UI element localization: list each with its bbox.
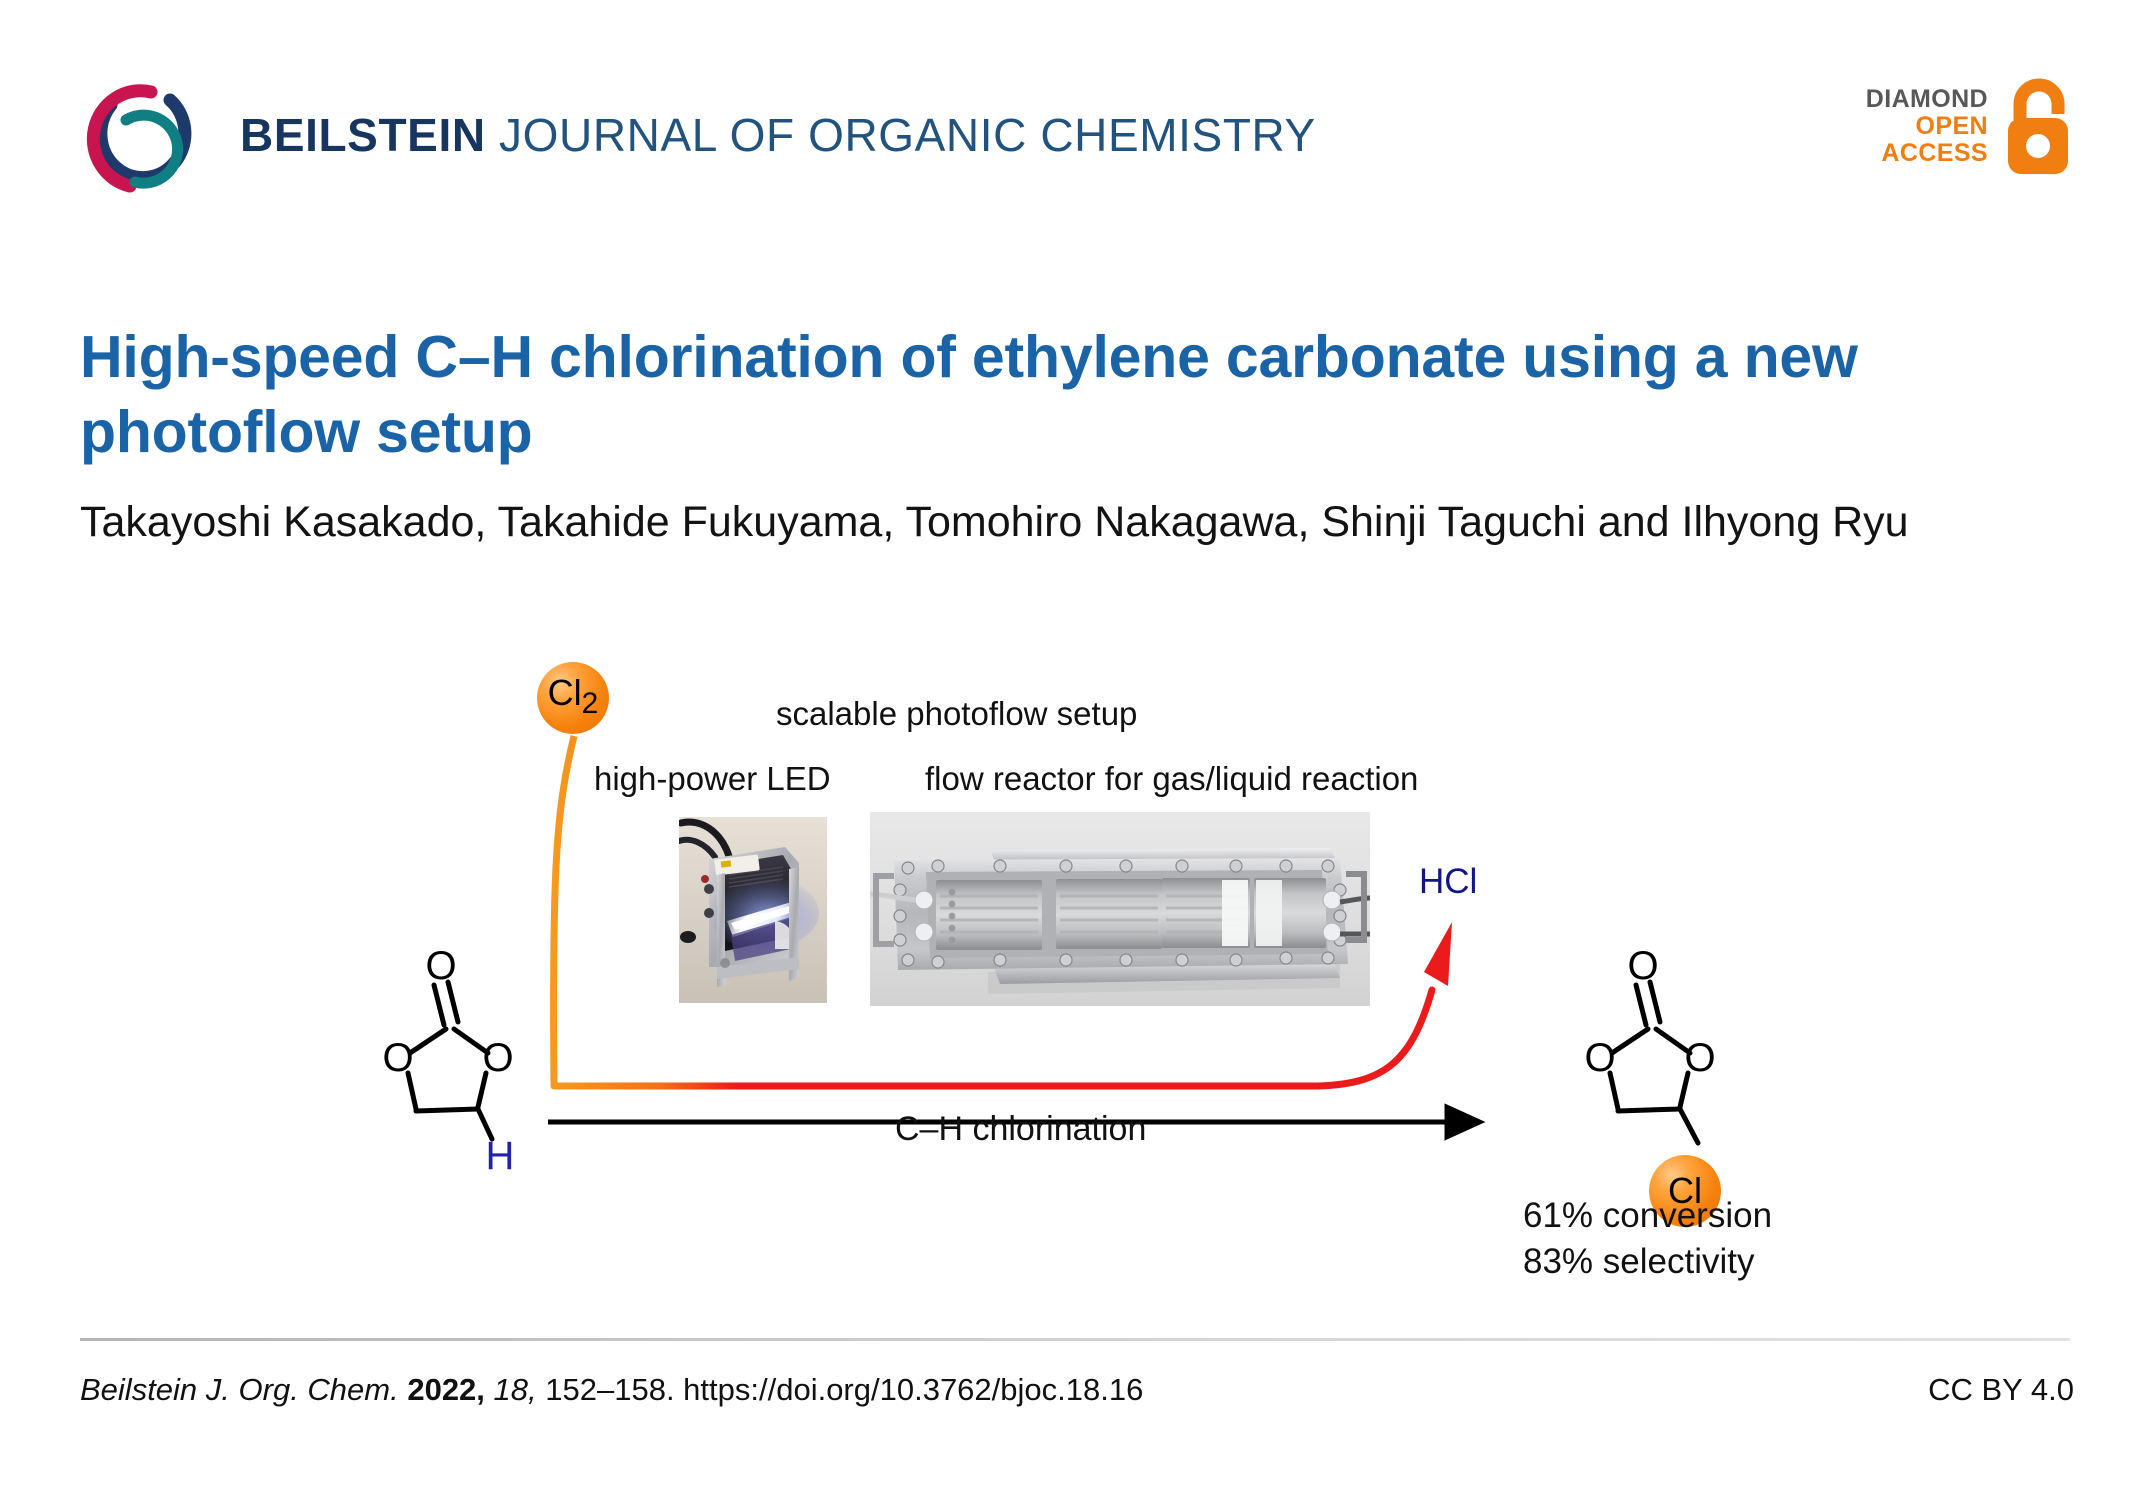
open-access-wordmark: DIAMOND OPEN ACCESS: [1866, 86, 1988, 167]
citation-volume: 18,: [485, 1372, 537, 1407]
oa-label-open: OPEN: [1866, 113, 1988, 140]
citation-year: 2022,: [399, 1372, 485, 1407]
wordmark-beilstein: BEILSTEIN: [240, 109, 486, 161]
diamond-open-access-badge: DIAMOND OPEN ACCESS: [1866, 70, 2078, 182]
oa-label-diamond: DIAMOND: [1866, 86, 1988, 113]
graphical-abstract: scalable photoflow setup high-power LED …: [0, 660, 2150, 1280]
yield-summary: 61% conversion 83% selectivity: [1523, 1193, 1772, 1285]
footer-citation: Beilstein J. Org. Chem. 2022, 18, 152–15…: [80, 1372, 1143, 1408]
molecule-chloroethylene-carbonate: O O O: [1572, 943, 1772, 1193]
atom-ring-oxygen-left: O: [1584, 1036, 1615, 1080]
journal-wordmark: BEILSTEIN JOURNAL OF ORGANIC CHEMISTRY: [240, 108, 1316, 162]
atom-carbonyl-oxygen: O: [425, 944, 456, 988]
label-ch-chlorination: C–H chlorination: [895, 1110, 1146, 1149]
molecule-ethylene-carbonate: O O O H: [370, 943, 560, 1173]
page-title: High-speed C–H chlorination of ethylene …: [80, 320, 2000, 471]
label-hcl-byproduct: HCl: [1419, 862, 1477, 902]
atom-ring-oxygen-left: O: [382, 1036, 413, 1080]
open-padlock-icon: [2002, 74, 2078, 178]
label-scalable-photoflow-setup: scalable photoflow setup: [776, 695, 1137, 733]
citation-journal: Beilstein J. Org. Chem.: [80, 1372, 399, 1407]
atom-carbonyl-oxygen: O: [1627, 944, 1658, 988]
wordmark-subtitle: JOURNAL OF ORGANIC CHEMISTRY: [486, 109, 1316, 161]
footer-divider: [80, 1338, 2070, 1341]
yield-selectivity: 83% selectivity: [1523, 1239, 1772, 1285]
atom-ring-oxygen-right: O: [482, 1036, 513, 1080]
photo-high-power-led: [679, 817, 827, 1003]
license-label: CC BY 4.0: [1928, 1372, 2074, 1408]
article-cover-page: BEILSTEIN JOURNAL OF ORGANIC CHEMISTRY D…: [0, 0, 2150, 1489]
author-list: Takayoshi Kasakado, Takahide Fukuyama, T…: [80, 492, 1960, 553]
cl2-sphere-label: Cl2: [548, 672, 599, 721]
cl2-reagent-sphere: Cl2: [537, 662, 609, 734]
atom-hydrogen: H: [486, 1134, 515, 1173]
oa-label-access: ACCESS: [1866, 140, 1988, 167]
yield-conversion: 61% conversion: [1523, 1193, 1772, 1239]
label-flow-reactor: flow reactor for gas/liquid reaction: [925, 760, 1418, 798]
photo-flow-reactor: [870, 812, 1370, 1006]
atom-ring-oxygen-right: O: [1684, 1036, 1715, 1080]
masthead: BEILSTEIN JOURNAL OF ORGANIC CHEMISTRY D…: [0, 0, 2150, 190]
citation-pages-doi[interactable]: 152–158. https://doi.org/10.3762/bjoc.18…: [537, 1372, 1144, 1407]
label-high-power-led: high-power LED: [594, 760, 831, 798]
beilstein-spiral-logo: [78, 78, 196, 196]
